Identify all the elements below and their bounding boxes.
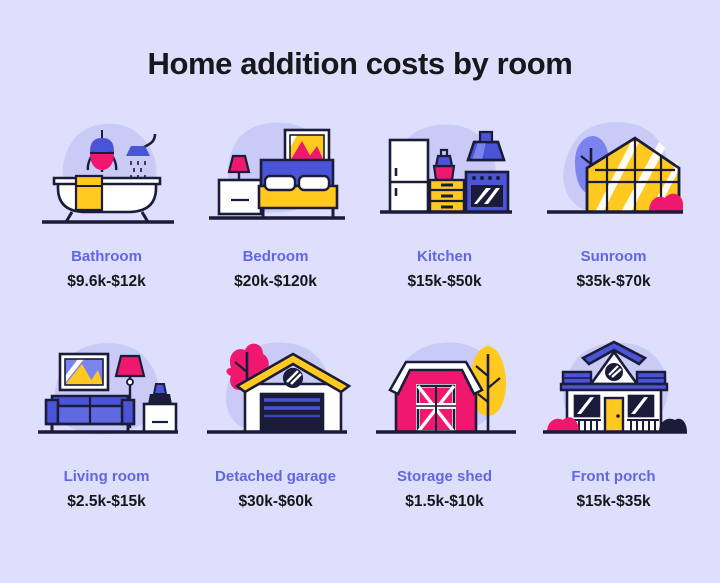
room-cost: $20k-$120k [234,273,317,290]
room-card-detached-garage: Detached garage $30k-$60k [191,328,360,548]
room-card-sunroom: Sunroom $35k-$70k [529,108,698,328]
sofa-icon [32,328,182,446]
room-cost: $35k-$70k [576,273,650,290]
room-label: Detached garage [215,469,336,486]
room-card-kitchen: Kitchen $15k-$50k [360,108,529,328]
page-title: Home addition costs by room [0,46,720,82]
room-label: Front porch [571,469,655,486]
infographic: Home addition costs by room [0,0,720,583]
shed-icon [370,328,520,446]
room-label: Bathroom [71,249,142,266]
room-cost: $15k-$35k [576,493,650,510]
room-label: Kitchen [417,249,472,266]
room-label: Bedroom [243,249,309,266]
room-card-bathroom: Bathroom $9.6k-$12k [22,108,191,328]
room-cost: $9.6k-$12k [67,273,145,290]
room-cost: $30k-$60k [238,493,312,510]
room-cost: $2.5k-$15k [67,493,145,510]
room-label: Sunroom [581,249,647,266]
room-grid: Bathroom $9.6k-$12k [22,108,698,548]
room-label: Living room [64,469,150,486]
room-label: Storage shed [397,469,492,486]
kitchen-icon [370,108,520,226]
room-cost: $1.5k-$10k [405,493,483,510]
house-porch-icon [539,328,689,446]
garage-icon [201,328,351,446]
greenhouse-icon [539,108,689,226]
room-card-living-room: Living room $2.5k-$15k [22,328,191,548]
bathtub-icon [32,108,182,226]
room-cost: $15k-$50k [407,273,481,290]
room-card-bedroom: Bedroom $20k-$120k [191,108,360,328]
bed-icon [201,108,351,226]
room-card-front-porch: Front porch $15k-$35k [529,328,698,548]
room-card-storage-shed: Storage shed $1.5k-$10k [360,328,529,548]
